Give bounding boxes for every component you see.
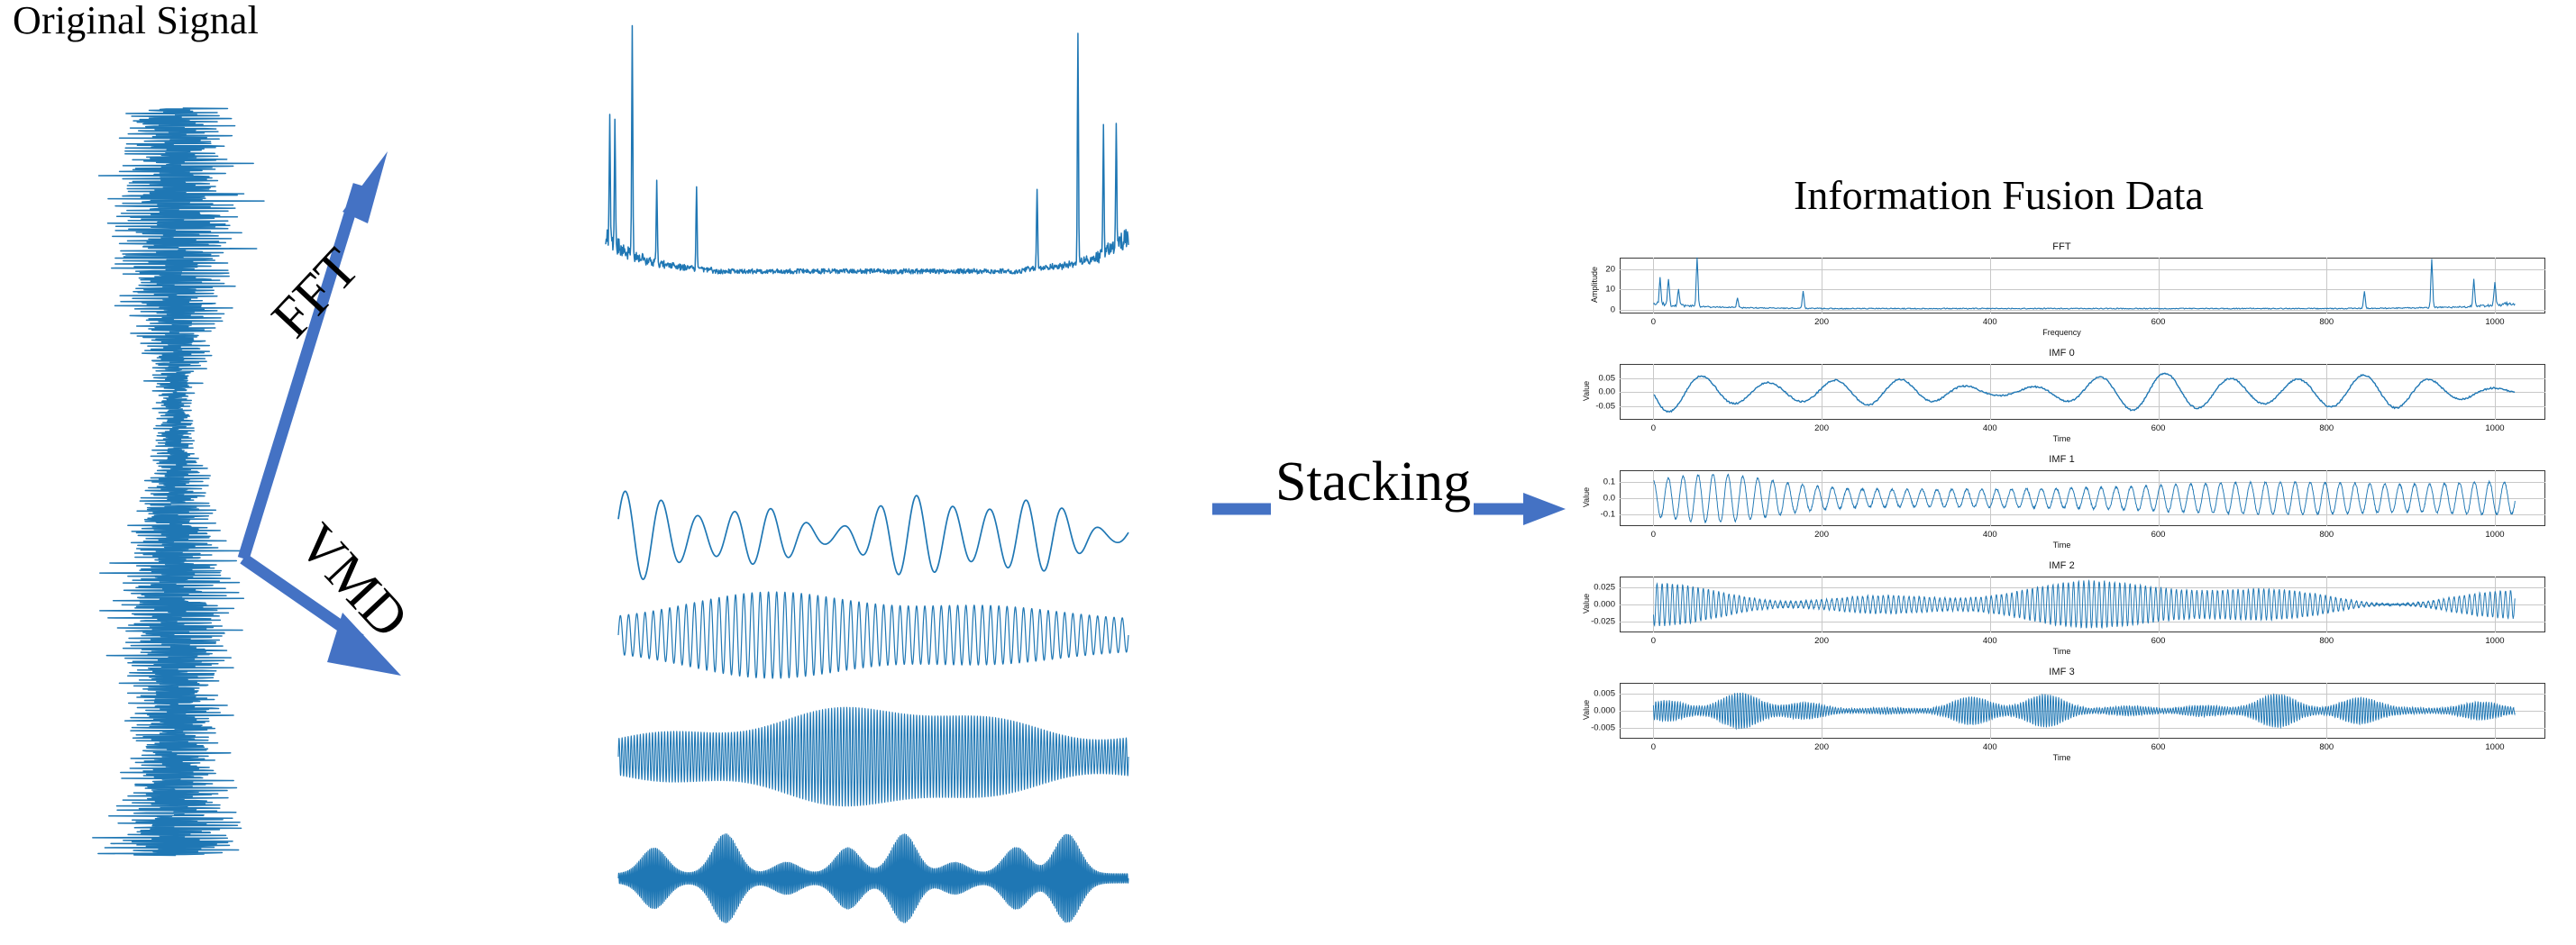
imf2-plot — [618, 698, 1128, 815]
x-tick-label: 600 — [2151, 742, 2166, 752]
x-tick-label: 0 — [1651, 530, 1656, 540]
subplot-axes: -0.0050.0000.00502004006008001000 — [1620, 683, 2545, 739]
x-tick-label: 600 — [2151, 317, 2166, 327]
x-axis-label: Time — [1564, 541, 2560, 550]
subplot-title: IMF 1 — [1564, 454, 2560, 465]
x-tick-label: 400 — [1983, 423, 1997, 433]
x-tick-label: 400 — [1983, 530, 1997, 540]
y-axis-label: Value — [1582, 700, 1591, 720]
x-tick-label: 200 — [1814, 530, 1829, 540]
x-tick-label: 0 — [1651, 317, 1656, 327]
x-tick-label: 800 — [2319, 742, 2334, 752]
subplot-axes: -0.050.000.0502004006008001000 — [1620, 364, 2545, 420]
subplot-title: IMF 2 — [1564, 560, 2560, 571]
y-tick-label: 0.00 — [1599, 387, 1616, 397]
information-fusion-figure: FFT0102002004006008001000AmplitudeFreque… — [1564, 241, 2560, 809]
x-tick-label: 1000 — [2485, 317, 2504, 327]
y-tick-label: 0.000 — [1594, 600, 1615, 610]
subplot-data-trace — [1620, 258, 2545, 313]
subplot-data-trace — [1620, 364, 2545, 420]
x-axis-label: Time — [1564, 647, 2560, 656]
y-tick-label: 0 — [1611, 304, 1615, 314]
x-axis-label: Time — [1564, 753, 2560, 762]
y-axis-label: Value — [1582, 594, 1591, 613]
y-tick-label: -0.025 — [1591, 617, 1615, 627]
subplot-data-trace — [1620, 683, 2545, 739]
original-signal-title: Original Signal — [13, 0, 259, 44]
fft-spectrum-plot — [606, 23, 1128, 284]
x-tick-label: 400 — [1983, 636, 1997, 646]
x-tick-label: 600 — [2151, 636, 2166, 646]
y-tick-label: -0.05 — [1595, 401, 1615, 411]
y-tick-label: 0.005 — [1594, 688, 1615, 698]
x-tick-label: 200 — [1814, 317, 1829, 327]
x-tick-label: 200 — [1814, 423, 1829, 433]
imf3-plot — [618, 829, 1128, 928]
y-tick-label: 0.0 — [1603, 494, 1615, 504]
x-tick-label: 1000 — [2485, 423, 2504, 433]
x-tick-label: 600 — [2151, 423, 2166, 433]
x-axis-label: Time — [1564, 434, 2560, 443]
x-tick-label: 800 — [2319, 423, 2334, 433]
y-tick-label: -0.005 — [1591, 723, 1615, 733]
subplot-title: IMF 0 — [1564, 348, 2560, 359]
x-tick-label: 200 — [1814, 742, 1829, 752]
y-axis-label: Value — [1582, 487, 1591, 507]
subplot-axes: -0.10.00.102004006008001000 — [1620, 470, 2545, 526]
subplot-title: IMF 3 — [1564, 667, 2560, 677]
x-tick-label: 400 — [1983, 742, 1997, 752]
x-tick-label: 800 — [2319, 636, 2334, 646]
y-tick-label: 0.025 — [1594, 582, 1615, 592]
x-tick-label: 200 — [1814, 636, 1829, 646]
imf0-plot — [618, 486, 1128, 586]
x-tick-label: 1000 — [2485, 742, 2504, 752]
y-axis-label: Value — [1582, 381, 1591, 401]
x-tick-label: 400 — [1983, 317, 1997, 327]
x-tick-label: 1000 — [2485, 530, 2504, 540]
subplot-title: FFT — [1564, 241, 2560, 252]
x-tick-label: 1000 — [2485, 636, 2504, 646]
x-tick-label: 0 — [1651, 742, 1656, 752]
y-tick-label: 10 — [1605, 285, 1615, 295]
x-tick-label: 600 — [2151, 530, 2166, 540]
subplot-data-trace — [1620, 470, 2545, 526]
y-tick-label: 0.000 — [1594, 706, 1615, 716]
y-tick-label: 20 — [1605, 265, 1615, 275]
subplot-data-trace — [1620, 577, 2545, 632]
stacking-label: Stacking — [1275, 450, 1471, 514]
x-axis-label: Frequency — [1564, 328, 2560, 337]
y-axis-label: Amplitude — [1590, 267, 1599, 303]
y-tick-label: 0.05 — [1599, 373, 1616, 383]
imf1-plot — [618, 586, 1128, 685]
x-tick-label: 800 — [2319, 317, 2334, 327]
x-tick-label: 0 — [1651, 636, 1656, 646]
fft-arrow — [243, 151, 388, 559]
subplot-axes: 0102002004006008001000 — [1620, 258, 2545, 313]
x-tick-label: 800 — [2319, 530, 2334, 540]
y-tick-label: -0.1 — [1601, 510, 1615, 520]
y-tick-label: 0.1 — [1603, 477, 1615, 486]
information-fusion-title: Information Fusion Data — [1794, 173, 2204, 219]
x-tick-label: 0 — [1651, 423, 1656, 433]
subplot-axes: -0.0250.0000.02502004006008001000 — [1620, 577, 2545, 632]
